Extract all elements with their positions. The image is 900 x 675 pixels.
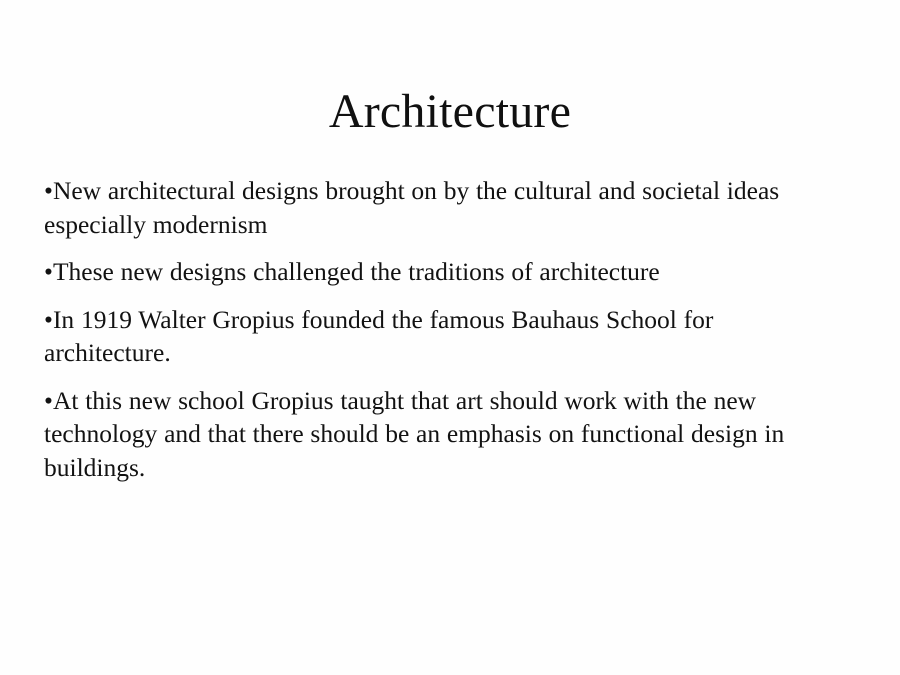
page-title: Architecture xyxy=(0,84,900,140)
list-item-text: At this new school Gropius taught that a… xyxy=(44,386,784,482)
bullet-list: •New architectural designs brought on by… xyxy=(44,174,834,484)
list-item-text: In 1919 Walter Gropius founded the famou… xyxy=(44,305,713,368)
bullet-point-icon: • xyxy=(44,386,53,415)
bullet-point-icon: • xyxy=(44,305,53,334)
list-item: •New architectural designs brought on by… xyxy=(44,174,834,241)
list-item: •In 1919 Walter Gropius founded the famo… xyxy=(44,303,834,370)
list-item: •These new designs challenged the tradit… xyxy=(44,255,834,289)
list-item-text: New architectural designs brought on by … xyxy=(44,176,779,239)
bullet-point-icon: • xyxy=(44,176,53,205)
list-item-text: These new designs challenged the traditi… xyxy=(53,257,660,286)
list-item: •At this new school Gropius taught that … xyxy=(44,384,834,485)
bullet-point-icon: • xyxy=(44,257,53,286)
presentation-slide: Architecture •New architectural designs … xyxy=(0,0,900,675)
